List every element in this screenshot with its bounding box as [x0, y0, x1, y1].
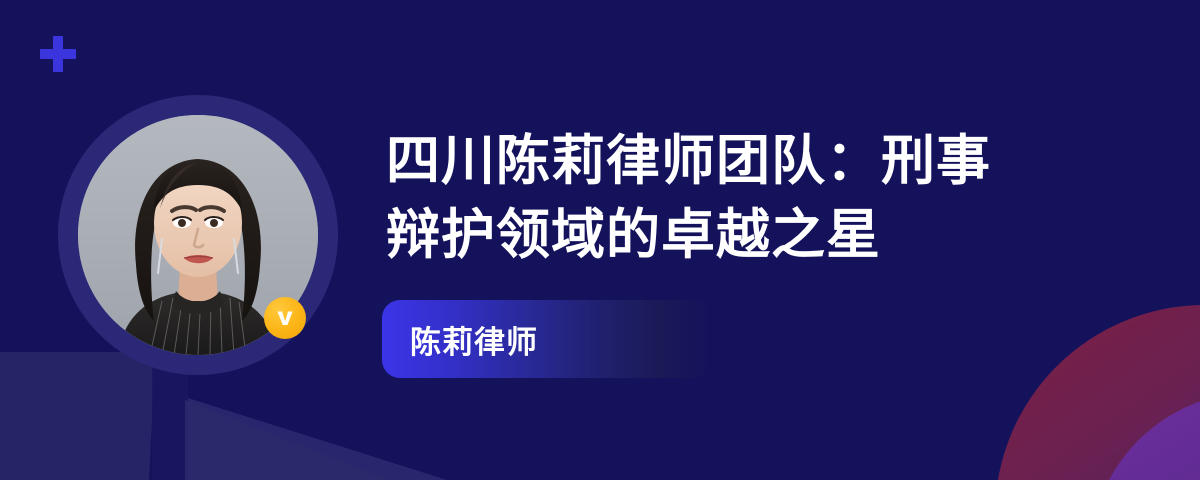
promo-banner: 四川陈莉律师团队：刑事 辩护领域的卓越之星 陈莉律师: [0, 0, 1200, 480]
lawyer-name-label: 陈莉律师: [382, 317, 538, 362]
page-title: 四川陈莉律师团队：刑事 辩护领域的卓越之星: [386, 124, 1086, 272]
avatar[interactable]: [58, 95, 338, 375]
verified-badge: [264, 297, 306, 339]
lawyer-name-pill[interactable]: 陈莉律师: [382, 300, 712, 378]
plus-icon: [40, 36, 76, 72]
